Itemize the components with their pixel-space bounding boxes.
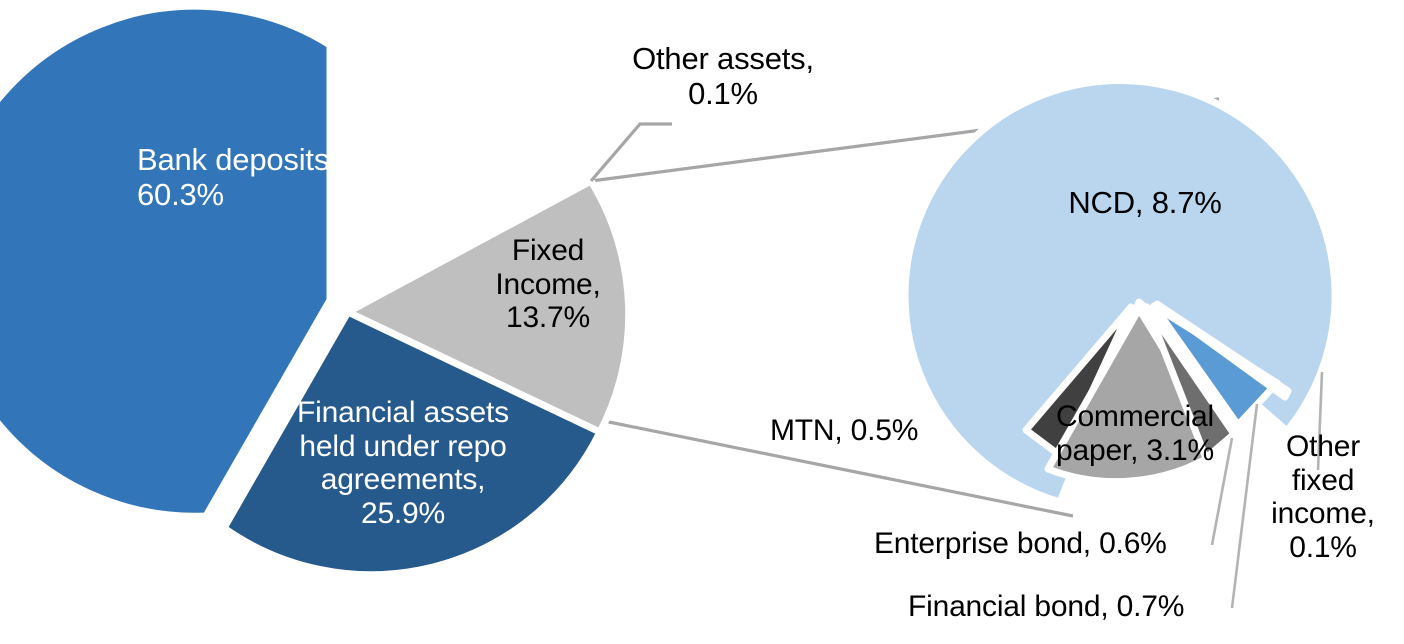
- label-financial-bond: Financial bond, 0.7%: [908, 590, 1184, 624]
- label-fixed-income: Fixed Income, 13.7%: [478, 234, 618, 335]
- label-ncd: NCD, 8.7%: [1045, 186, 1245, 221]
- label-enterprise-bond: Enterprise bond, 0.6%: [874, 527, 1167, 561]
- label-commercial-paper: Commercial paper, 3.1%: [1040, 400, 1230, 467]
- label-other-assets: Other assets, 0.1%: [598, 42, 848, 111]
- label-mtn: MTN, 0.5%: [770, 414, 918, 448]
- pie-of-pie-chart: Bank deposits, 60.3% Fixed Income, 13.7%…: [0, 0, 1404, 644]
- label-repo-agreements: Financial assets held under repo agreeme…: [263, 396, 543, 530]
- label-other-fixed-income: Other fixed income, 0.1%: [1263, 430, 1383, 564]
- label-bank-deposits: Bank deposits, 60.3%: [137, 143, 338, 212]
